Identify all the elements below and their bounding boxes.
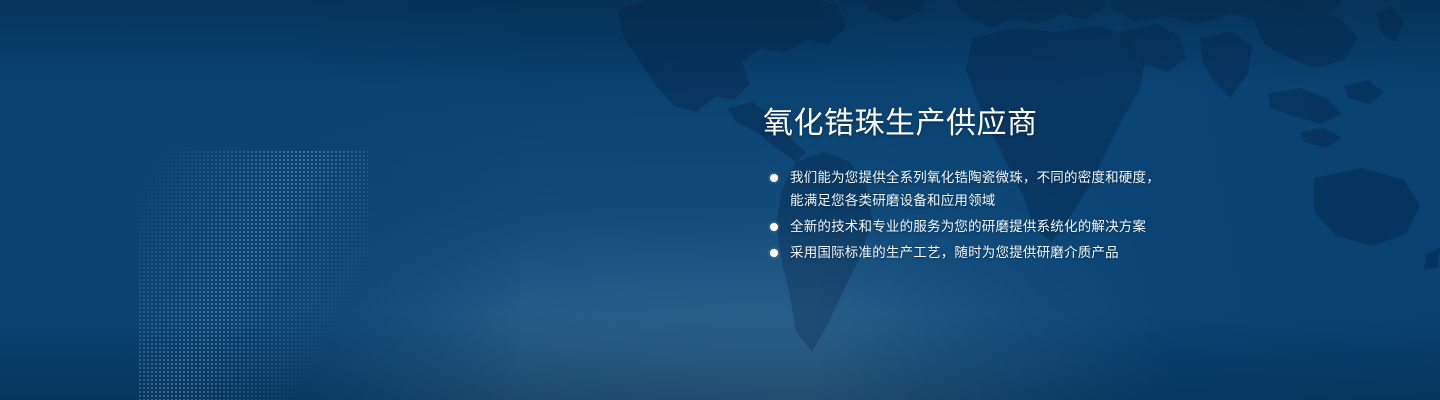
bullet-line: 能满足您各类研磨设备和应用领域	[790, 189, 1233, 212]
bullet-dot-icon	[770, 223, 778, 231]
bullet-line: 我们能为您提供全系列氧化锆陶瓷微珠，不同的密度和硬度，	[790, 166, 1233, 189]
bullet-dot-icon	[770, 174, 778, 182]
banner-bullet-list: 我们能为您提供全系列氧化锆陶瓷微珠，不同的密度和硬度， 能满足您各类研磨设备和应…	[763, 166, 1233, 264]
bullet-line: 全新的技术和专业的服务为您的研磨提供系统化的解决方案	[790, 215, 1233, 238]
bullet-dot-icon	[770, 249, 778, 257]
hero-banner: 氧化锆珠生产供应商 我们能为您提供全系列氧化锆陶瓷微珠，不同的密度和硬度， 能满…	[0, 0, 1440, 400]
banner-copy: 氧化锆珠生产供应商 我们能为您提供全系列氧化锆陶瓷微珠，不同的密度和硬度， 能满…	[763, 104, 1233, 267]
banner-headline: 氧化锆珠生产供应商	[763, 104, 1233, 144]
bullet-item-2: 全新的技术和专业的服务为您的研磨提供系统化的解决方案	[763, 215, 1233, 238]
bullet-item-1: 我们能为您提供全系列氧化锆陶瓷微珠，不同的密度和硬度， 能满足您各类研磨设备和应…	[763, 166, 1233, 212]
bullet-line: 采用国际标准的生产工艺，随时为您提供研磨介质产品	[790, 241, 1233, 264]
zirconia-ceramic-beads-photo	[120, 0, 740, 400]
bullet-item-3: 采用国际标准的生产工艺，随时为您提供研磨介质产品	[763, 241, 1233, 264]
